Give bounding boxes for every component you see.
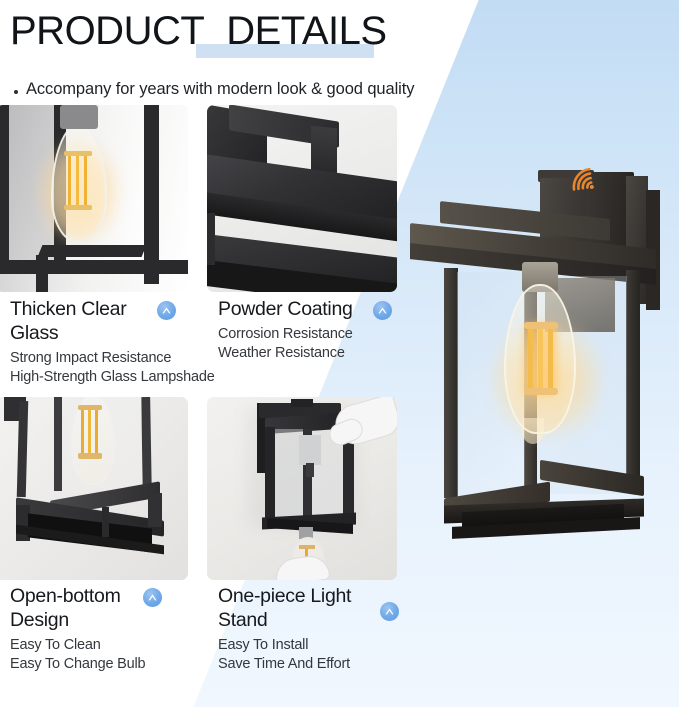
feature-subtext-line2: Easy To Change Bulb: [10, 655, 200, 674]
feature-image-powder-coating-art: [207, 105, 397, 292]
feature-subtext-line2: High-Strength Glass Lampshade: [10, 368, 195, 387]
chevron-up-circle-icon[interactable]: [373, 301, 392, 320]
feature-subtext-one-piece-light-stand: Easy To Install Save Time And Effort: [218, 636, 413, 674]
feature-image-open-bottom-design-art: [0, 397, 188, 580]
chevron-up-circle-icon[interactable]: [143, 588, 162, 607]
feature-image-open-bottom-design[interactable]: [0, 397, 188, 580]
page-title: PRODUCT DETAILS: [10, 8, 387, 54]
hero-product-image: [400, 150, 679, 550]
feature-subtext-line2: Save Time And Effort: [218, 655, 413, 674]
page-title-word-product: PRODUCT: [10, 8, 204, 54]
feature-subtext-thicken-clear-glass: Strong Impact Resistance High-Strength G…: [10, 349, 195, 387]
feature-subtext-open-bottom-design: Easy To Clean Easy To Change Bulb: [10, 636, 200, 674]
feature-image-one-piece-light-stand-art: [207, 397, 397, 580]
feature-title-line1: Open-bottom: [10, 585, 200, 609]
wifi-signal-icon: [566, 163, 602, 200]
feature-image-thicken-clear-glass[interactable]: [0, 105, 188, 292]
feature-image-powder-coating[interactable]: [207, 105, 397, 292]
feature-subtext-line1: Strong Impact Resistance: [10, 349, 195, 368]
page-title-word-details: DETAILS: [226, 8, 386, 54]
feature-subtext-line1: Easy To Clean: [10, 636, 200, 655]
feature-subtext-line2: Weather Resistance: [218, 344, 408, 363]
feature-block-one-piece-light-stand: One-piece Light Stand Easy To Install Sa…: [218, 585, 413, 674]
feature-subtext-line1: Corrosion Resistance: [218, 325, 408, 344]
headline-bullet: Accompany for years with modern look & g…: [14, 80, 414, 99]
bullet-dot-icon: [14, 90, 18, 94]
headline-bullet-text: Accompany for years with modern look & g…: [26, 80, 414, 99]
feature-block-open-bottom-design: Open-bottom Design Easy To Clean Easy To…: [10, 585, 200, 674]
feature-subtext-powder-coating: Corrosion Resistance Weather Resistance: [218, 325, 408, 363]
feature-image-one-piece-light-stand[interactable]: [207, 397, 397, 580]
feature-title-line2: Glass: [10, 322, 195, 346]
feature-title-line2: Design: [10, 609, 200, 633]
chevron-up-circle-icon[interactable]: [380, 602, 399, 621]
feature-subtext-line1: Easy To Install: [218, 636, 413, 655]
feature-image-thicken-clear-glass-art: [0, 105, 188, 292]
chevron-up-circle-icon[interactable]: [157, 301, 176, 320]
